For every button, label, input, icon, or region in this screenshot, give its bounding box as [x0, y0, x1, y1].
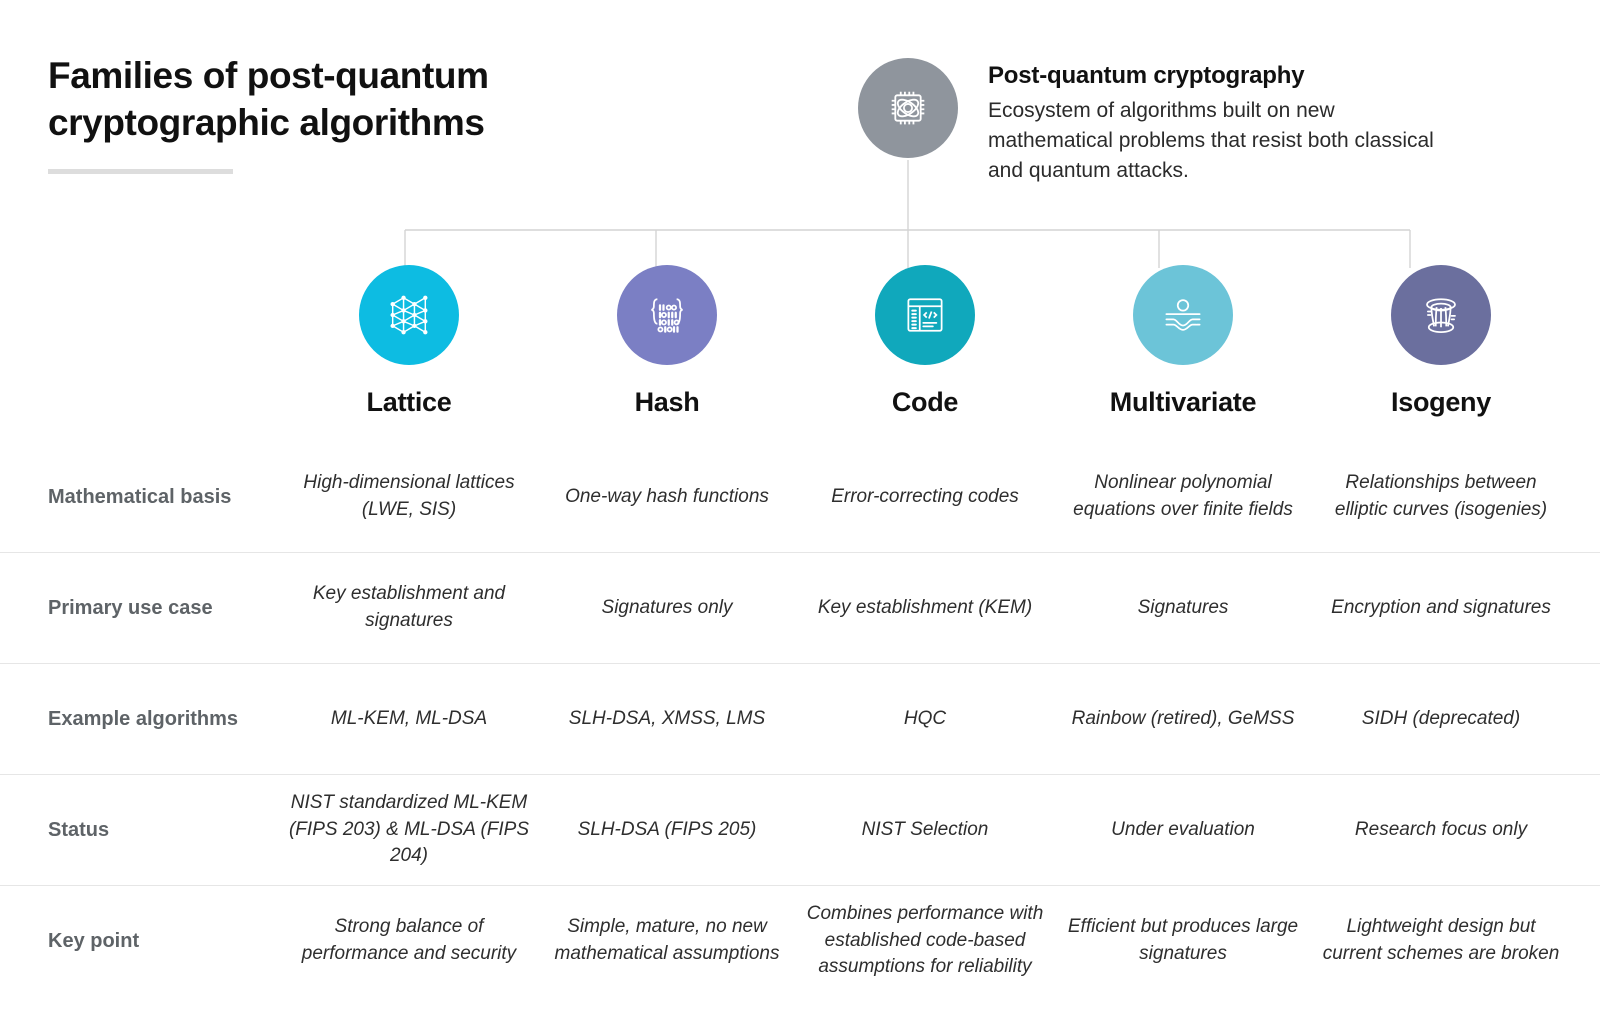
cell-example-algorithms-lattice: ML-KEM, ML-DSA — [288, 706, 530, 733]
hub-icon-circle — [858, 58, 958, 158]
code-window-icon — [897, 287, 953, 343]
row-label-primary-use-case: Primary use case — [48, 595, 280, 622]
wave-curves-icon — [1155, 287, 1211, 343]
table-row-mathematical-basis: Mathematical basis High-dimensional latt… — [0, 442, 1600, 552]
column-hash[interactable]: Hash — [538, 265, 796, 418]
table-row-primary-use-case: Primary use case Key establishment and s… — [0, 552, 1600, 663]
row-label-example-algorithms: Example algorithms — [48, 706, 280, 733]
hub-description: Ecosystem of algorithms built on new mat… — [988, 96, 1458, 185]
lattice-network-icon — [380, 286, 438, 344]
cell-status-hash: SLH-DSA (FIPS 205) — [546, 817, 788, 844]
title-underline-rule — [48, 169, 233, 174]
cell-status-multivariate: Under evaluation — [1062, 817, 1304, 844]
column-header-row: Lattice Hash — [0, 265, 1600, 418]
hash-icon-circle — [617, 265, 717, 365]
isogeny-icon-circle — [1391, 265, 1491, 365]
column-title-multivariate: Multivariate — [1062, 387, 1304, 418]
cell-primary-use-case-hash: Signatures only — [546, 595, 788, 622]
cell-mathematical-basis-code: Error-correcting codes — [804, 484, 1046, 511]
title-block: Families of post-quantum cryptographic a… — [48, 52, 588, 174]
table-row-status: Status NIST standardized ML-KEM (FIPS 20… — [0, 774, 1600, 885]
column-title-code: Code — [804, 387, 1046, 418]
row-label-status: Status — [48, 817, 280, 844]
cell-example-algorithms-code: HQC — [804, 706, 1046, 733]
quantum-chip-icon — [879, 79, 937, 137]
cell-status-lattice: NIST standardized ML-KEM (FIPS 203) & ML… — [288, 790, 530, 871]
column-title-lattice: Lattice — [288, 387, 530, 418]
comparison-matrix: Lattice Hash — [0, 265, 1600, 996]
column-code[interactable]: Code — [796, 265, 1054, 418]
row-label-key-point: Key point — [48, 928, 280, 955]
header-spacer — [0, 418, 1600, 442]
cell-primary-use-case-isogeny: Encryption and signatures — [1320, 595, 1562, 622]
column-title-isogeny: Isogeny — [1320, 387, 1562, 418]
hub-block: Post-quantum cryptography Ecosystem of a… — [858, 58, 1458, 185]
column-title-hash: Hash — [546, 387, 788, 418]
column-lattice[interactable]: Lattice — [280, 265, 538, 418]
cell-mathematical-basis-isogeny: Relationships between elliptic curves (i… — [1320, 470, 1562, 524]
cell-key-point-isogeny: Lightweight design but current schemes a… — [1320, 914, 1562, 968]
cell-example-algorithms-isogeny: SIDH (deprecated) — [1320, 706, 1562, 733]
cell-primary-use-case-multivariate: Signatures — [1062, 595, 1304, 622]
cell-mathematical-basis-lattice: High-dimensional lattices (LWE, SIS) — [288, 470, 530, 524]
hub-text-block: Post-quantum cryptography Ecosystem of a… — [988, 58, 1458, 185]
cell-key-point-lattice: Strong balance of performance and securi… — [288, 914, 530, 968]
cell-primary-use-case-code: Key establishment (KEM) — [804, 595, 1046, 622]
table-row-example-algorithms: Example algorithms ML-KEM, ML-DSA SLH-DS… — [0, 663, 1600, 774]
column-multivariate[interactable]: Multivariate — [1054, 265, 1312, 418]
cell-mathematical-basis-multivariate: Nonlinear polynomial equations over fini… — [1062, 470, 1304, 524]
row-label-mathematical-basis: Mathematical basis — [48, 484, 280, 511]
page-title: Families of post-quantum cryptographic a… — [48, 52, 588, 147]
hub-title: Post-quantum cryptography — [988, 62, 1458, 90]
table-row-key-point: Key point Strong balance of performance … — [0, 885, 1600, 996]
wormhole-icon — [1413, 287, 1469, 343]
cell-key-point-multivariate: Efficient but produces large signatures — [1062, 914, 1304, 968]
cell-example-algorithms-multivariate: Rainbow (retired), GeMSS — [1062, 706, 1304, 733]
multivariate-icon-circle — [1133, 265, 1233, 365]
cell-status-code: NIST Selection — [804, 817, 1046, 844]
header: Families of post-quantum cryptographic a… — [0, 0, 1600, 230]
cell-key-point-hash: Simple, mature, no new mathematical assu… — [546, 914, 788, 968]
cell-example-algorithms-hash: SLH-DSA, XMSS, LMS — [546, 706, 788, 733]
column-isogeny[interactable]: Isogeny — [1312, 265, 1570, 418]
cell-mathematical-basis-hash: One-way hash functions — [546, 484, 788, 511]
lattice-icon-circle — [359, 265, 459, 365]
cell-key-point-code: Combines performance with established co… — [804, 901, 1046, 982]
code-icon-circle — [875, 265, 975, 365]
cell-status-isogeny: Research focus only — [1320, 817, 1562, 844]
binary-braces-icon — [639, 287, 695, 343]
cell-primary-use-case-lattice: Key establishment and signatures — [288, 581, 530, 635]
